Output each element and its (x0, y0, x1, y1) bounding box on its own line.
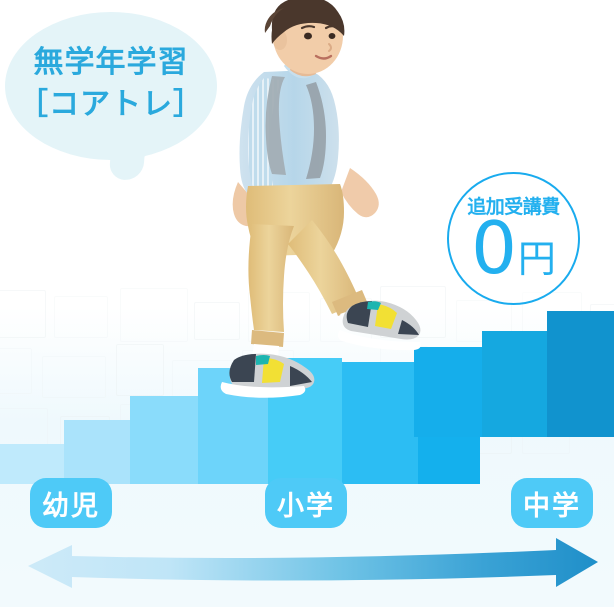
bidirectional-progress-arrow (0, 535, 614, 597)
price-badge-amount-row: 0 円 (471, 219, 556, 278)
price-badge-currency: 円 (518, 244, 556, 275)
poster-canvas: 無学年学習 ［コアトレ］ 追加受講費 0 円 幼児 小学 中学 (0, 0, 614, 607)
stage-chip-youji: 幼児 (30, 478, 112, 528)
stage-chip-chuugaku: 中学 (511, 478, 593, 528)
shoe-left (221, 354, 315, 398)
shoe-right (338, 301, 421, 350)
boy-figure-svg (212, 0, 422, 400)
staircase-step-9 (482, 331, 548, 437)
staircase-step-10 (547, 311, 614, 437)
speech-bubble-line-1: 無学年学習 (34, 44, 189, 82)
price-badge: 追加受講費 0 円 (447, 172, 580, 305)
speech-bubble-line-2: ［コアトレ］ (18, 86, 204, 124)
speech-bubble: 無学年学習 ［コアトレ］ (5, 12, 217, 160)
price-badge-amount: 0 (471, 219, 517, 278)
staircase-step-8 (414, 347, 482, 437)
arrow-svg (0, 535, 614, 597)
stage-chip-shougaku: 小学 (265, 478, 347, 528)
staircase-step-3 (130, 396, 198, 484)
walking-boy-photo (212, 0, 422, 400)
staircase-step-2 (64, 420, 130, 484)
